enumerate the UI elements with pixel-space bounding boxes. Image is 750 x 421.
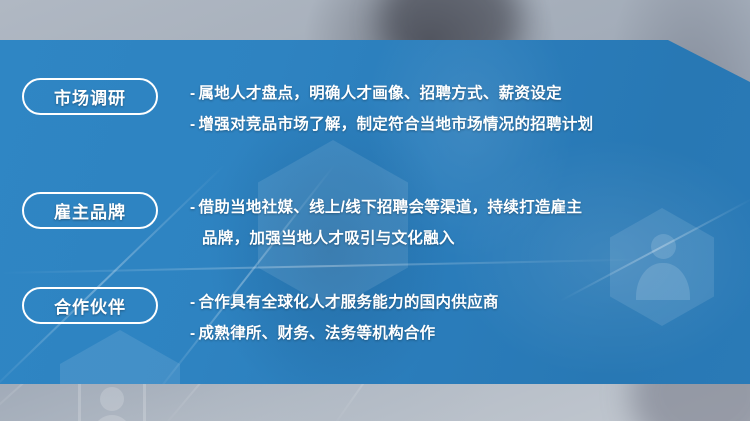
bullet-text: 增强对竞品市场了解，制定符合当地市场情况的招聘计划 bbox=[198, 116, 593, 133]
bullet-dash: - bbox=[190, 294, 195, 311]
watermark-head-icon bbox=[100, 387, 124, 411]
bullet-text: 合作具有全球化人才服务能力的国内供应商 bbox=[198, 294, 498, 311]
badge-employer-brand[interactable]: 雇主品牌 bbox=[22, 192, 158, 229]
content-panel: 市场调研 -属地人才盘点，明确人才画像、招聘方式、薪资设定 -增强对竞品市场了解… bbox=[0, 0, 750, 421]
bullet-dash: - bbox=[190, 325, 195, 342]
bullet-line: -成熟律所、财务、法务等机构合作 bbox=[190, 318, 499, 349]
section-row-market-research: 市场调研 -属地人才盘点，明确人才画像、招聘方式、薪资设定 -增强对竞品市场了解… bbox=[22, 78, 593, 140]
bullet-text: 品牌，加强当地人才吸引与文化融入 bbox=[202, 230, 455, 247]
section-lines-employer-brand: -借助当地社媒、线上/线下招聘会等渠道，持续打造雇主 品牌，加强当地人才吸引与文… bbox=[190, 192, 582, 254]
bullet-line: -借助当地社媒、线上/线下招聘会等渠道，持续打造雇主 bbox=[190, 192, 582, 223]
bullet-text: 属地人才盘点，明确人才画像、招聘方式、薪资设定 bbox=[198, 85, 561, 102]
person-body-icon bbox=[636, 263, 690, 300]
slide-canvas: 市场调研 -属地人才盘点，明确人才画像、招聘方式、薪资设定 -增强对竞品市场了解… bbox=[0, 0, 750, 421]
bullet-text: 成熟律所、财务、法务等机构合作 bbox=[198, 325, 435, 342]
bullet-dash: - bbox=[190, 85, 195, 102]
badge-partners[interactable]: 合作伙伴 bbox=[22, 287, 158, 324]
badge-market-research[interactable]: 市场调研 bbox=[22, 78, 158, 115]
section-row-employer-brand: 雇主品牌 -借助当地社媒、线上/线下招聘会等渠道，持续打造雇主 品牌，加强当地人… bbox=[22, 192, 582, 254]
section-row-partners: 合作伙伴 -合作具有全球化人才服务能力的国内供应商 -成熟律所、财务、法务等机构… bbox=[22, 287, 499, 349]
bullet-text: 借助当地社媒、线上/线下招聘会等渠道，持续打造雇主 bbox=[198, 199, 582, 216]
bullet-line: -属地人才盘点，明确人才画像、招聘方式、薪资设定 bbox=[190, 78, 593, 109]
bullet-dash: - bbox=[190, 116, 195, 133]
person-watermark-right bbox=[634, 232, 692, 300]
section-lines-market-research: -属地人才盘点，明确人才画像、招聘方式、薪资设定 -增强对竞品市场了解，制定符合… bbox=[190, 78, 593, 140]
section-lines-partners: -合作具有全球化人才服务能力的国内供应商 -成熟律所、财务、法务等机构合作 bbox=[190, 287, 499, 349]
bullet-line: -增强对竞品市场了解，制定符合当地市场情况的招聘计划 bbox=[190, 109, 593, 140]
bullet-dash: - bbox=[190, 199, 195, 216]
bullet-line: -合作具有全球化人才服务能力的国内供应商 bbox=[190, 287, 499, 318]
bullet-line-continuation: 品牌，加强当地人才吸引与文化融入 bbox=[190, 223, 582, 254]
